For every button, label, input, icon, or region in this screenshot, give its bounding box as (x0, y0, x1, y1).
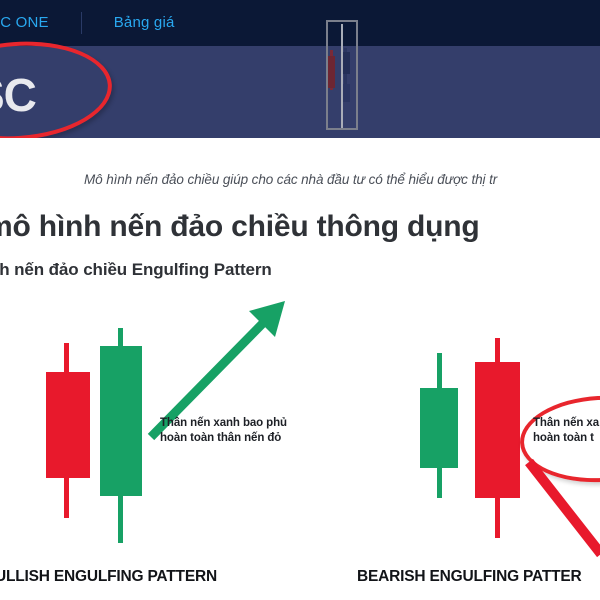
section-subheading: hình nến đảo chiều Engulfing Pattern (0, 260, 272, 280)
page-title: mô hình nến đảo chiều thông dụng (0, 210, 480, 244)
nav-item-bang-gia[interactable]: Bảng giá (96, 0, 193, 46)
bearish-annotation-line2: hoàn toàn t (533, 431, 599, 446)
hero-banner: SC (0, 46, 600, 138)
bullish-annotation-text: Thân nến xanh bao phủ hoàn toàn thân nến… (160, 416, 287, 446)
bearish-pattern-caption: BEARISH ENGULFING PATTER (357, 568, 582, 586)
bearish-second-candle-body (475, 362, 520, 498)
hero-outline-rectangle-wick (341, 24, 343, 128)
red-down-arrow-icon (525, 458, 600, 558)
nav-item-sc-one[interactable]: SC ONE (0, 0, 67, 46)
top-navigation-bar: SC ONE Bảng giá (0, 0, 600, 46)
article-subtitle: Mô hình nến đảo chiều giúp cho các nhà đ… (84, 172, 600, 187)
nav-links-container: SC ONE Bảng giá (0, 0, 193, 46)
bullish-pattern-caption: BULLISH ENGULFING PATTERN (0, 568, 217, 586)
nav-divider (81, 12, 82, 34)
bearish-annotation-text: Thân nến xa hoàn toàn t (533, 416, 599, 446)
bullish-annotation-line2: hoàn toàn thân nến đỏ (160, 431, 287, 446)
bearish-first-candle-body (420, 388, 458, 468)
bearish-annotation-line1: Thân nến xa (533, 416, 599, 431)
site-logo-text[interactable]: SC (0, 68, 36, 122)
bullish-second-candle-body (100, 346, 142, 496)
bullish-annotation-line1: Thân nến xanh bao phủ (160, 416, 287, 431)
main-content: Mô hình nến đảo chiều giúp cho các nhà đ… (0, 138, 600, 600)
bullish-first-candle-body (46, 372, 90, 478)
